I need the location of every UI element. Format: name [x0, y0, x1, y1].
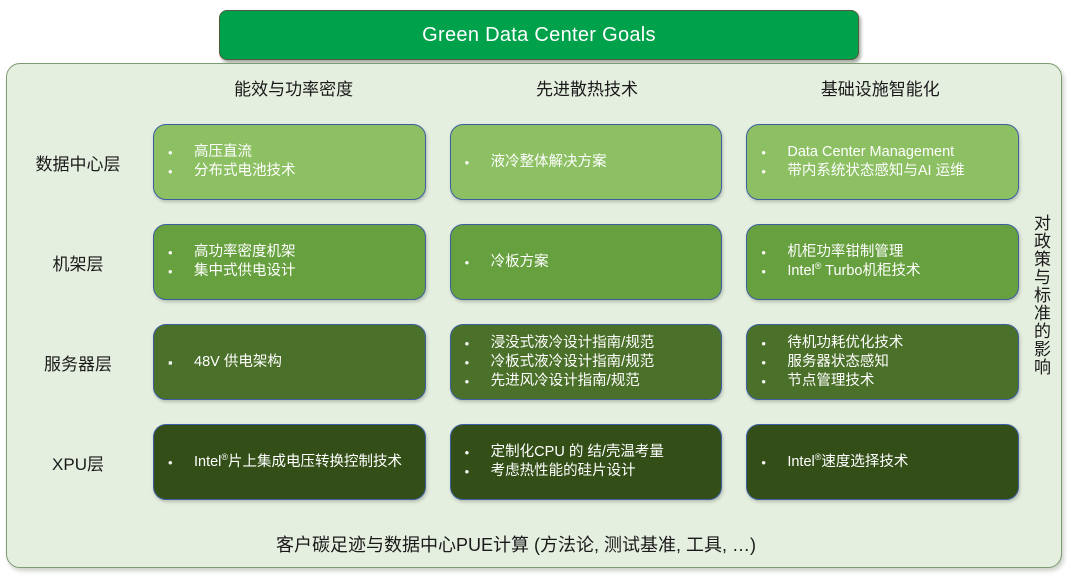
- card-bullet-item: •高压直流: [166, 143, 415, 162]
- card-bullet-text: 节点管理技术: [787, 372, 1008, 391]
- column-header-0: 能效与功率密度: [147, 73, 440, 107]
- capability-card-r2-c0[interactable]: ▪48V 供电架构: [153, 324, 426, 400]
- card-bullet-text: Intel® Turbo机柜技术: [787, 262, 1008, 281]
- bullet-icon: ▪: [166, 353, 194, 372]
- bullet-icon: •: [759, 262, 787, 281]
- capability-card-r3-c1[interactable]: •定制化CPU 的 结/壳温考量•考虑热性能的硅片设计: [450, 424, 723, 500]
- bullet-icon: •: [759, 143, 787, 162]
- bullet-icon: •: [759, 162, 787, 181]
- card-bullet-text: 机柜功率钳制管理: [787, 243, 1008, 262]
- card-bullet-text: 冷板方案: [491, 253, 712, 272]
- bullet-icon: •: [166, 453, 194, 472]
- card-bullet-text: 分布式电池技术: [194, 162, 415, 181]
- card-bullet-text: Data Center Management: [787, 143, 1008, 162]
- card-bullet-text: 先进风冷设计指南/规范: [491, 372, 712, 391]
- row-cards: •高功率密度机架•集中式供电设计•冷板方案•机柜功率钳制管理•Intel® Tu…: [153, 224, 1019, 300]
- matrix-row: 机架层•高功率密度机架•集中式供电设计•冷板方案•机柜功率钳制管理•Intel®…: [7, 212, 1019, 312]
- row-cards: •高压直流•分布式电池技术•液冷整体解决方案•Data Center Manag…: [153, 124, 1019, 200]
- card-bullet-text: 待机功耗优化技术: [787, 334, 1008, 353]
- card-bullet-item: •带内系统状态感知与AI 运维: [759, 162, 1008, 181]
- capability-card-r1-c0[interactable]: •高功率密度机架•集中式供电设计: [153, 224, 426, 300]
- capability-card-r0-c1[interactable]: •液冷整体解决方案: [450, 124, 723, 200]
- card-bullet-text: 高功率密度机架: [194, 243, 415, 262]
- card-bullet-item: •Intel® Turbo机柜技术: [759, 262, 1008, 281]
- footer-note: 客户碳足迹与数据中心PUE计算 (方法论, 测试基准, 工具, …): [7, 531, 1061, 557]
- matrix-panel: 能效与功率密度 先进散热技术 基础设施智能化 数据中心层•高压直流•分布式电池技…: [6, 63, 1062, 568]
- column-header-2: 基础设施智能化: [734, 73, 1027, 107]
- card-bullet-text: Intel®速度选择技术: [787, 453, 1008, 472]
- bullet-icon: •: [759, 372, 787, 391]
- card-bullet-item: •浸没式液冷设计指南/规范: [463, 334, 712, 353]
- capability-card-r3-c0[interactable]: •Intel®片上集成电压转换控制技术: [153, 424, 426, 500]
- row-cards: ▪48V 供电架构•浸没式液冷设计指南/规范•冷板式液冷设计指南/规范•先进风冷…: [153, 324, 1019, 400]
- side-label: 对政策与标准的影响: [1023, 214, 1053, 376]
- bullet-icon: •: [463, 372, 491, 391]
- matrix-row: 服务器层▪48V 供电架构•浸没式液冷设计指南/规范•冷板式液冷设计指南/规范•…: [7, 312, 1019, 412]
- row-label-2: 服务器层: [7, 350, 153, 375]
- matrix-row: 数据中心层•高压直流•分布式电池技术•液冷整体解决方案•Data Center …: [7, 112, 1019, 212]
- card-bullet-item: •定制化CPU 的 结/壳温考量: [463, 443, 712, 462]
- card-bullet-item: •节点管理技术: [759, 372, 1008, 391]
- matrix-row: XPU层•Intel®片上集成电压转换控制技术•定制化CPU 的 结/壳温考量•…: [7, 412, 1019, 512]
- bullet-icon: •: [463, 153, 491, 172]
- bullet-icon: •: [463, 462, 491, 481]
- capability-card-r2-c2[interactable]: •待机功耗优化技术•服务器状态感知•节点管理技术: [746, 324, 1019, 400]
- diagram-root: Green Data Center Goals 能效与功率密度 先进散热技术 基…: [0, 0, 1080, 576]
- card-bullet-item: •先进风冷设计指南/规范: [463, 372, 712, 391]
- bullet-icon: •: [759, 243, 787, 262]
- bullet-icon: •: [463, 253, 491, 272]
- bullet-icon: •: [463, 334, 491, 353]
- bullet-icon: •: [166, 143, 194, 162]
- page-title: Green Data Center Goals: [422, 24, 656, 47]
- card-bullet-item: •服务器状态感知: [759, 353, 1008, 372]
- bullet-icon: •: [463, 353, 491, 372]
- card-bullet-item: •考虑热性能的硅片设计: [463, 462, 712, 481]
- card-bullet-text: 集中式供电设计: [194, 262, 415, 281]
- row-label-1: 机架层: [7, 250, 153, 275]
- column-headers: 能效与功率密度 先进散热技术 基础设施智能化: [147, 73, 1027, 107]
- card-bullet-text: Intel®片上集成电压转换控制技术: [194, 453, 415, 472]
- card-bullet-text: 48V 供电架构: [194, 353, 415, 372]
- card-bullet-item: •冷板式液冷设计指南/规范: [463, 353, 712, 372]
- card-bullet-text: 服务器状态感知: [787, 353, 1008, 372]
- capability-card-r0-c0[interactable]: •高压直流•分布式电池技术: [153, 124, 426, 200]
- card-bullet-text: 带内系统状态感知与AI 运维: [787, 162, 1008, 181]
- card-bullet-text: 浸没式液冷设计指南/规范: [491, 334, 712, 353]
- capability-card-r1-c1[interactable]: •冷板方案: [450, 224, 723, 300]
- row-label-3: XPU层: [7, 450, 153, 475]
- capability-card-r1-c2[interactable]: •机柜功率钳制管理•Intel® Turbo机柜技术: [746, 224, 1019, 300]
- card-bullet-text: 液冷整体解决方案: [491, 153, 712, 172]
- capability-card-r3-c2[interactable]: •Intel®速度选择技术: [746, 424, 1019, 500]
- card-bullet-item: •高功率密度机架: [166, 243, 415, 262]
- bullet-icon: •: [166, 243, 194, 262]
- card-bullet-item: •Intel®速度选择技术: [759, 453, 1008, 472]
- card-bullet-item: •液冷整体解决方案: [463, 153, 712, 172]
- row-label-0: 数据中心层: [7, 150, 153, 175]
- bullet-icon: •: [166, 162, 194, 181]
- title-banner: Green Data Center Goals: [219, 10, 859, 60]
- card-bullet-text: 冷板式液冷设计指南/规范: [491, 353, 712, 372]
- card-bullet-item: •分布式电池技术: [166, 162, 415, 181]
- card-bullet-item: •集中式供电设计: [166, 262, 415, 281]
- bullet-icon: •: [166, 262, 194, 281]
- capability-card-r2-c1[interactable]: •浸没式液冷设计指南/规范•冷板式液冷设计指南/规范•先进风冷设计指南/规范: [450, 324, 723, 400]
- bullet-icon: •: [759, 453, 787, 472]
- card-bullet-text: 定制化CPU 的 结/壳温考量: [491, 443, 712, 462]
- bullet-icon: •: [759, 353, 787, 372]
- column-header-1: 先进散热技术: [440, 73, 733, 107]
- card-bullet-item: •待机功耗优化技术: [759, 334, 1008, 353]
- card-bullet-text: 高压直流: [194, 143, 415, 162]
- matrix-rows: 数据中心层•高压直流•分布式电池技术•液冷整体解决方案•Data Center …: [7, 112, 1019, 512]
- bullet-icon: •: [759, 334, 787, 353]
- card-bullet-text: 考虑热性能的硅片设计: [491, 462, 712, 481]
- capability-card-r0-c2[interactable]: •Data Center Management•带内系统状态感知与AI 运维: [746, 124, 1019, 200]
- card-bullet-item: •机柜功率钳制管理: [759, 243, 1008, 262]
- row-cards: •Intel®片上集成电压转换控制技术•定制化CPU 的 结/壳温考量•考虑热性…: [153, 424, 1019, 500]
- card-bullet-item: •Data Center Management: [759, 143, 1008, 162]
- bullet-icon: •: [463, 443, 491, 462]
- card-bullet-item: •Intel®片上集成电压转换控制技术: [166, 453, 415, 472]
- card-bullet-item: ▪48V 供电架构: [166, 353, 415, 372]
- card-bullet-item: •冷板方案: [463, 253, 712, 272]
